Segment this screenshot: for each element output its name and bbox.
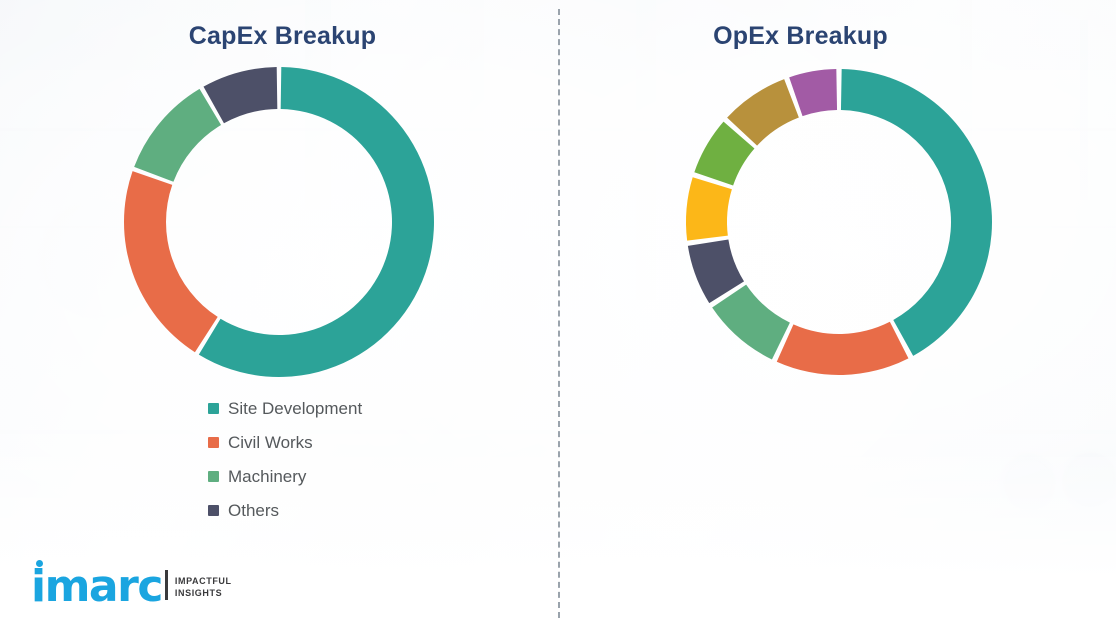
donut-slice <box>712 285 790 360</box>
legend-item-label: Others <box>228 502 279 519</box>
opex-donut-chart <box>686 69 992 375</box>
logo-tagline: IMPACTFUL INSIGHTS <box>175 575 232 599</box>
donut-slice <box>686 177 732 240</box>
opex-panel: OpEx Breakup Raw MaterialsSalaries and W… <box>559 0 1116 627</box>
donut-slice <box>124 171 218 352</box>
imarc-logo[interactable]: imarc IMPACTFUL INSIGHTS <box>31 569 232 605</box>
legend-item[interactable]: Civil Works <box>208 425 362 459</box>
legend-swatch-icon <box>208 437 219 448</box>
capex-legend: Site DevelopmentCivil WorksMachineryOthe… <box>208 391 362 527</box>
logo-dot-icon <box>36 560 43 567</box>
legend-swatch-icon <box>208 403 219 414</box>
donut-slice <box>841 69 992 356</box>
logo-wordmark: imarc <box>31 569 162 605</box>
donut-slice <box>777 322 909 375</box>
donut-slice <box>789 69 837 116</box>
opex-donut-svg <box>686 69 992 375</box>
logo-divider-bar <box>165 570 168 600</box>
legend-swatch-icon <box>208 471 219 482</box>
logo-tagline-line1: IMPACTFUL <box>175 575 232 587</box>
opex-title: OpEx Breakup <box>522 22 1079 51</box>
capex-panel: CapEx Breakup Site DevelopmentCivil Work… <box>0 0 559 627</box>
legend-item-label: Civil Works <box>228 434 313 451</box>
legend-item-label: Machinery <box>228 468 306 485</box>
legend-item[interactable]: Others <box>208 493 362 527</box>
legend-swatch-icon <box>208 505 219 516</box>
legend-item-label: Site Development <box>228 400 362 417</box>
legend-item[interactable]: Machinery <box>208 459 362 493</box>
logo-tagline-line2: INSIGHTS <box>175 587 232 599</box>
donut-slice <box>134 89 221 182</box>
capex-title: CapEx Breakup <box>3 22 562 51</box>
capex-donut-svg <box>124 67 434 377</box>
logo-wordmark-text: imarc <box>31 561 162 612</box>
capex-donut-chart <box>124 67 434 377</box>
legend-item[interactable]: Site Development <box>208 391 362 425</box>
panel-divider <box>558 9 560 618</box>
